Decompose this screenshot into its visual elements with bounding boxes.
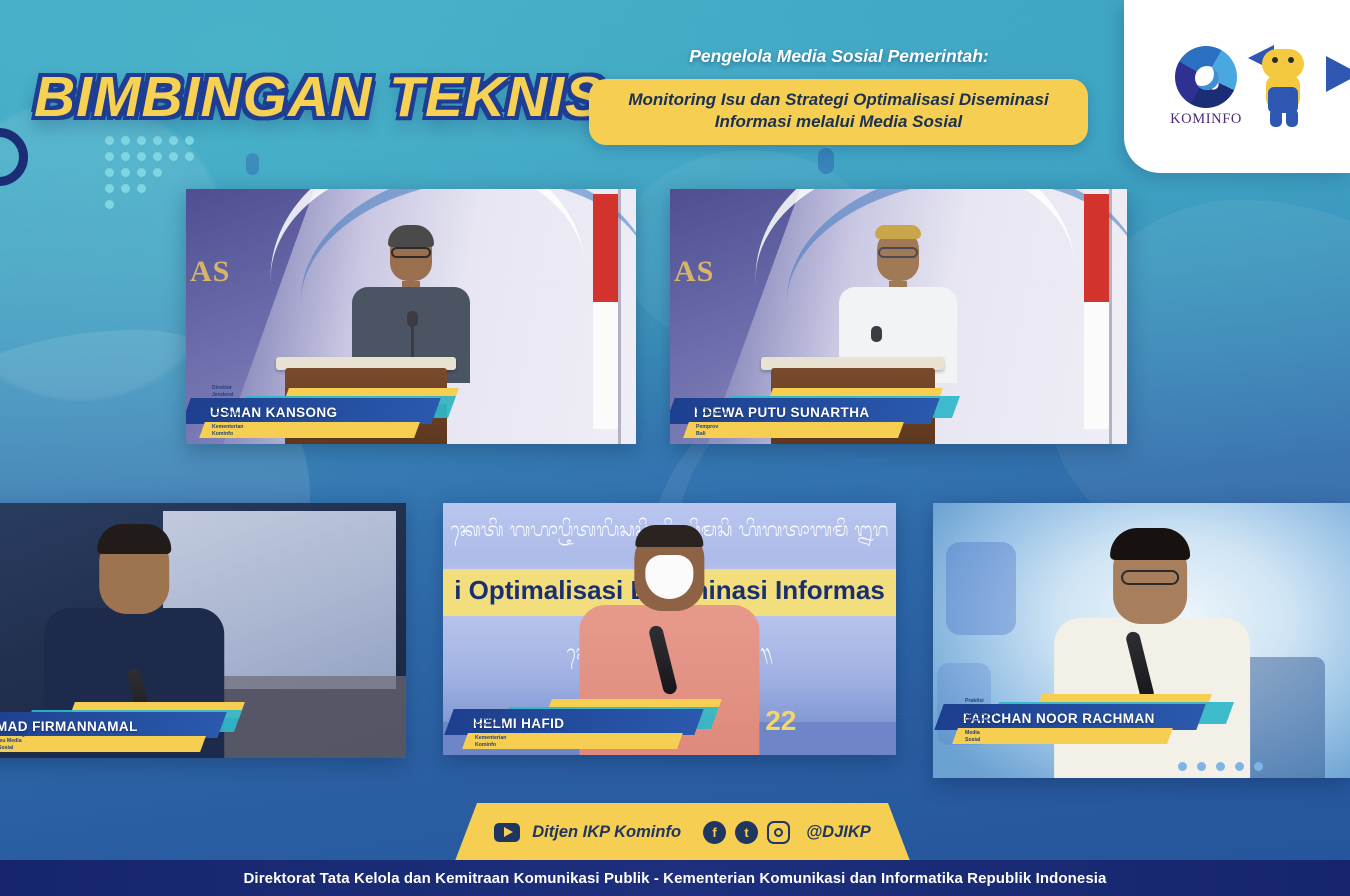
social-icons-group: f t: [703, 821, 790, 844]
kominfo-wave-icon: [1175, 46, 1237, 108]
header-subtitle: Pengelola Media Sosial Pemerintah:: [589, 46, 1089, 67]
speaker-role: Koordinator Kemitraan Komunikasi Publik …: [475, 709, 506, 748]
twitter-icon[interactable]: t: [735, 821, 758, 844]
video-tile-farchan-noor-rachman[interactable]: FARCHAN NOOR RACHMAN Praktisi Bidang Opt…: [933, 503, 1350, 778]
footer-organization-text: Direktorat Tata Kelola dan Kemitraan Kom…: [244, 870, 1107, 887]
bg-pill-right: [818, 148, 834, 174]
footer-organization-bar: Direktorat Tata Kelola dan Kemitraan Kom…: [0, 860, 1350, 896]
instagram-icon[interactable]: [767, 821, 790, 844]
bg-pill-left: [246, 153, 259, 175]
facebook-icon[interactable]: f: [703, 821, 726, 844]
backdrop-date-right: 22: [765, 705, 796, 737]
footer-social-chip: Ditjen IKP Kominfo f t @DJIKP: [455, 803, 910, 861]
page-title: BIMBINGAN TEKNIS: [34, 64, 604, 130]
youtube-icon[interactable]: [494, 823, 520, 842]
video-tile-helmi-hafid[interactable]: ᬓᬾᬢᬶ ᬕᬳᬵᬧ᭄ᬝᬶᬢᬮᬶᬲᬲᬶ ᬳᬶ ᬱᬶᬫᬲᬶ ᬳᬶᬕᬢᬵᬩᬫᬶ ᬍᬭ …: [443, 503, 896, 755]
partial-logo-left: A: [0, 128, 40, 218]
backdrop-text: AS: [674, 255, 714, 289]
speaker-role: Praktisi Bidang Optimalisasi Diseminasi …: [965, 698, 996, 744]
video-tile-i-dewa-putu-sunartha[interactable]: AS I DEWA PUTU SUNARTHA Asisten Administ…: [670, 189, 1127, 444]
speaker-role: Direktur Jenderal Informasi dan Komunika…: [212, 385, 243, 437]
speaker-role: Asisten Administrasi Umum Pemprov Bali: [696, 405, 727, 438]
social-handle: @DJIKP: [806, 823, 871, 842]
carousel-dots-indicator[interactable]: [1178, 762, 1263, 771]
mascot-icon: [1252, 39, 1314, 135]
kominfo-logo-card: KOMINFO: [1124, 0, 1350, 173]
topic-chip: Monitoring Isu dan Strategi Optimalisasi…: [589, 79, 1088, 145]
webinar-stage: A BIMBINGAN TEKNIS Pengelola Media Sosia…: [0, 0, 1350, 896]
youtube-channel-label: Ditjen IKP Kominfo: [532, 823, 681, 842]
backdrop-text: AS: [190, 255, 230, 289]
kominfo-wordmark: KOMINFO: [1170, 111, 1242, 128]
speaker-role: Monitoring Isu Media Sosial: [0, 732, 25, 752]
video-tile-ahmad-firmannamal[interactable]: MAD FIRMANNAMAL Monitoring Isu Media Sos…: [0, 503, 406, 758]
flag-decoration-icon: [1326, 48, 1350, 138]
kominfo-logo: KOMINFO: [1168, 46, 1244, 128]
video-tile-usman-kansong[interactable]: AS USMAN KANSONG Direktur Jenderal Infor…: [186, 189, 636, 444]
